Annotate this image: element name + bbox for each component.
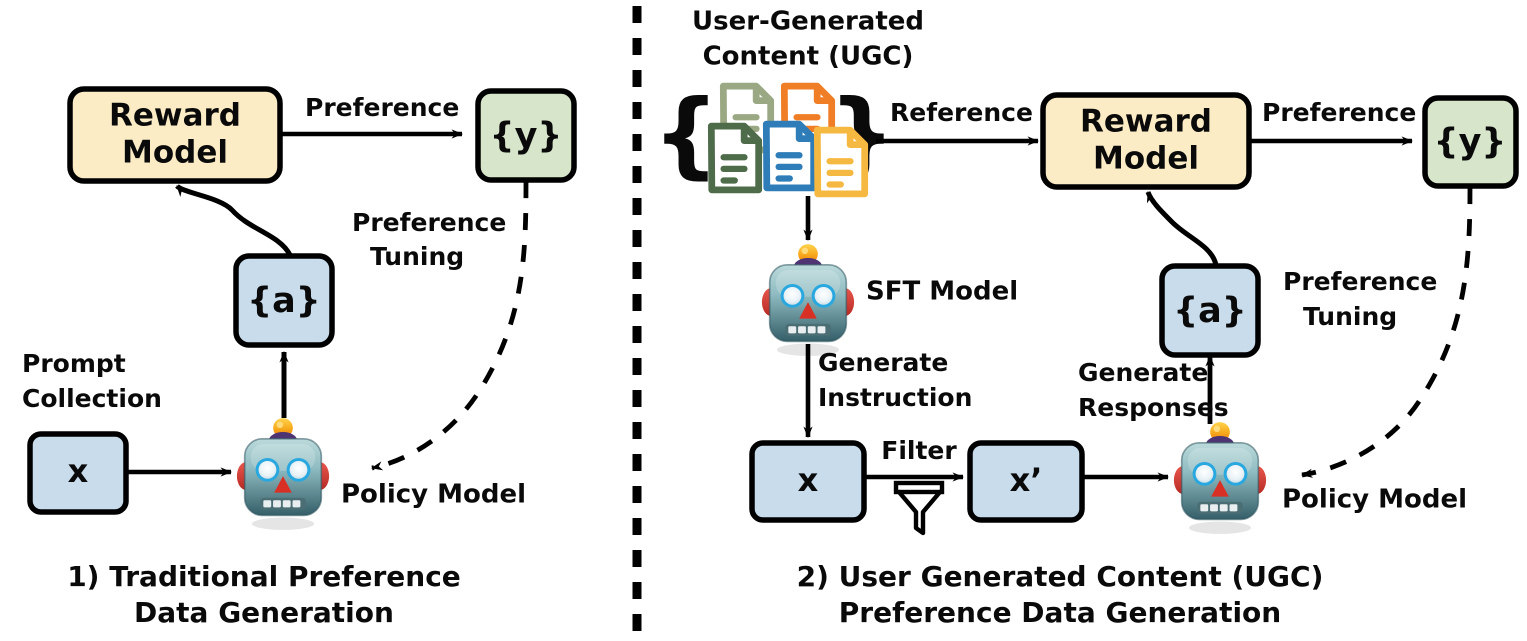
right-preference-tuning-arrow — [1302, 187, 1470, 475]
right-instruction-box[interactable]: x — [752, 443, 864, 520]
right-instruction-label: x — [798, 461, 819, 499]
left-outputs-box[interactable]: {y} — [478, 91, 574, 180]
figure-canvas: Reward Model Preference {y} Preference T… — [0, 0, 1527, 641]
left-prompt-label: x — [68, 452, 89, 490]
sft-model-label: SFT Model — [866, 277, 1018, 307]
right-responses-box[interactable]: {a} — [1162, 266, 1258, 355]
document-icon — [817, 130, 864, 194]
right-outputs-label: {y} — [1434, 122, 1507, 162]
left-reward-input-arrow — [177, 186, 290, 255]
right-reward-model-label-1: Reward — [1080, 104, 1212, 140]
filter-label: Filter — [881, 436, 957, 465]
right-preference-tuning-label-2: Tuning — [1303, 302, 1397, 331]
filtered-instruction-label: x’ — [1010, 461, 1043, 499]
funnel-icon — [896, 483, 942, 533]
reference-label: Reference — [890, 98, 1033, 127]
right-caption-line-1: 2) User Generated Content (UGC) — [797, 560, 1324, 593]
right-reward-input-arrow — [1148, 192, 1216, 265]
ugc-title-line-1: User-Generated — [692, 7, 924, 37]
left-preference-label: Preference — [305, 93, 459, 122]
right-reward-model-label-2: Model — [1093, 141, 1199, 177]
left-responses-box[interactable]: {a} — [236, 256, 332, 345]
generate-instruction-label-2: Instruction — [818, 383, 972, 412]
document-icon — [766, 124, 813, 188]
diagram-svg: Reward Model Preference {y} Preference T… — [0, 0, 1527, 641]
right-preference-tuning-label-1: Preference — [1283, 267, 1437, 296]
ugc-title-line-2: Content (UGC) — [703, 42, 914, 72]
generate-responses-label-2: Responses — [1078, 393, 1229, 422]
right-policy-model-icon[interactable] — [1174, 422, 1266, 534]
right-outputs-box[interactable]: {y} — [1425, 98, 1516, 186]
left-policy-model-icon[interactable] — [237, 418, 329, 530]
right-policy-model-label: Policy Model — [1282, 485, 1467, 515]
right-preference-label: Preference — [1262, 98, 1416, 127]
left-responses-label: {a} — [247, 281, 320, 321]
right-caption-line-2: Preference Data Generation — [839, 596, 1281, 629]
left-preference-tuning-label-2: Tuning — [370, 242, 464, 271]
left-reward-model-box[interactable]: Reward Model — [70, 89, 280, 181]
generate-responses-label-1: Generate — [1078, 358, 1208, 387]
left-outputs-label: {y} — [490, 116, 563, 156]
left-preference-tuning-label-1: Preference — [352, 208, 506, 237]
left-prompt-box[interactable]: x — [30, 434, 126, 512]
right-reward-model-box[interactable]: Reward Model — [1043, 95, 1249, 187]
document-icon — [711, 126, 758, 190]
left-policy-model-label: Policy Model — [341, 480, 526, 510]
left-caption-line-1: 1) Traditional Preference — [67, 560, 461, 593]
filtered-instruction-box[interactable]: x’ — [970, 443, 1082, 520]
left-prompt-collection-label-2: Collection — [22, 384, 162, 413]
right-responses-label: {a} — [1173, 291, 1246, 331]
left-caption-line-2: Data Generation — [134, 596, 394, 629]
left-prompt-collection-label-1: Prompt — [22, 349, 126, 378]
sft-model-icon[interactable] — [762, 244, 854, 356]
left-reward-model-label-2: Model — [122, 135, 228, 171]
generate-instruction-label-1: Generate — [818, 348, 948, 377]
left-reward-model-label-1: Reward — [109, 98, 241, 134]
